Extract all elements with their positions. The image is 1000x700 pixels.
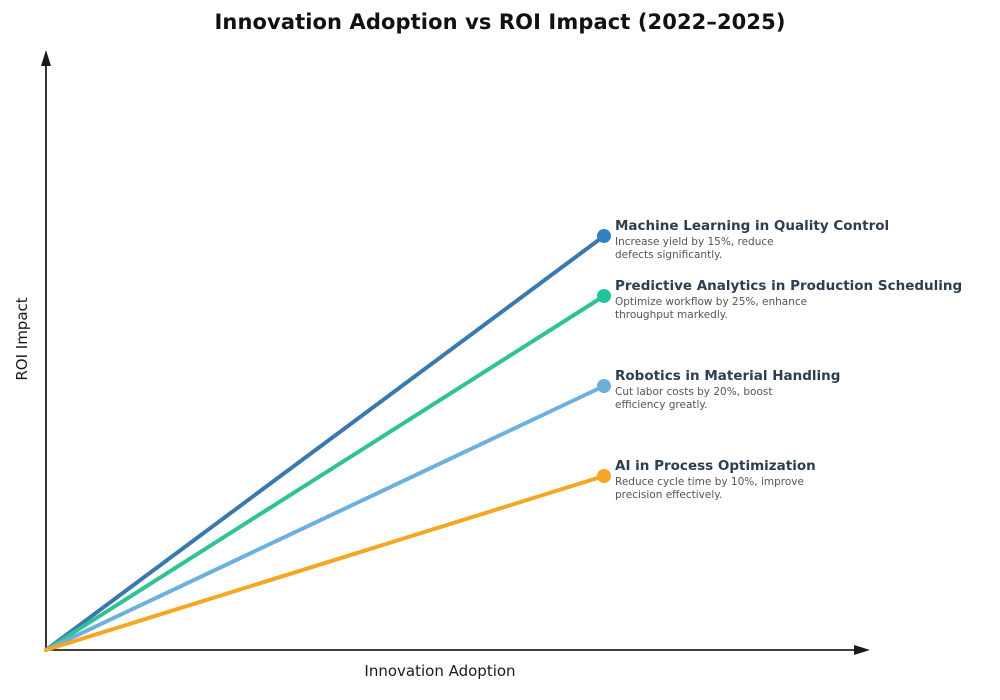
axes-group — [41, 50, 870, 655]
series-line — [46, 236, 604, 650]
series-annotation-description: Optimize workflow by 25%, enhance throug… — [615, 296, 962, 321]
y-axis-label: ROI Impact — [13, 279, 31, 399]
series-annotation: Predictive Analytics in Production Sched… — [615, 279, 962, 321]
series-annotation: AI in Process OptimizationReduce cycle t… — [615, 459, 816, 501]
series-line — [46, 296, 604, 650]
series-annotation-description: Cut labor costs by 20%, boost efficiency… — [615, 386, 840, 411]
series-annotation-title: Machine Learning in Quality Control — [615, 219, 889, 234]
series-annotation-title: Robotics in Material Handling — [615, 369, 840, 384]
series-endpoint-marker[interactable] — [597, 289, 611, 303]
series-annotation-title: AI in Process Optimization — [615, 459, 816, 474]
series-line — [46, 476, 604, 650]
series-endpoint-marker[interactable] — [597, 229, 611, 243]
series-annotation-description: Increase yield by 15%, reduce defects si… — [615, 236, 889, 261]
y-axis-arrow-icon — [41, 50, 51, 66]
series-layer — [46, 229, 611, 650]
x-axis-arrow-icon — [854, 645, 870, 655]
chart-plot-area — [0, 0, 1000, 700]
series-annotation-title: Predictive Analytics in Production Sched… — [615, 279, 962, 294]
chart-container: Innovation Adoption vs ROI Impact (2022–… — [0, 0, 1000, 700]
series-line — [46, 386, 604, 650]
series-annotation: Machine Learning in Quality ControlIncre… — [615, 219, 889, 261]
series-endpoint-marker[interactable] — [597, 379, 611, 393]
series-annotation: Robotics in Material HandlingCut labor c… — [615, 369, 840, 411]
x-axis-label: Innovation Adoption — [295, 662, 585, 680]
series-endpoint-marker[interactable] — [597, 469, 611, 483]
series-annotation-description: Reduce cycle time by 10%, improve precis… — [615, 476, 816, 501]
